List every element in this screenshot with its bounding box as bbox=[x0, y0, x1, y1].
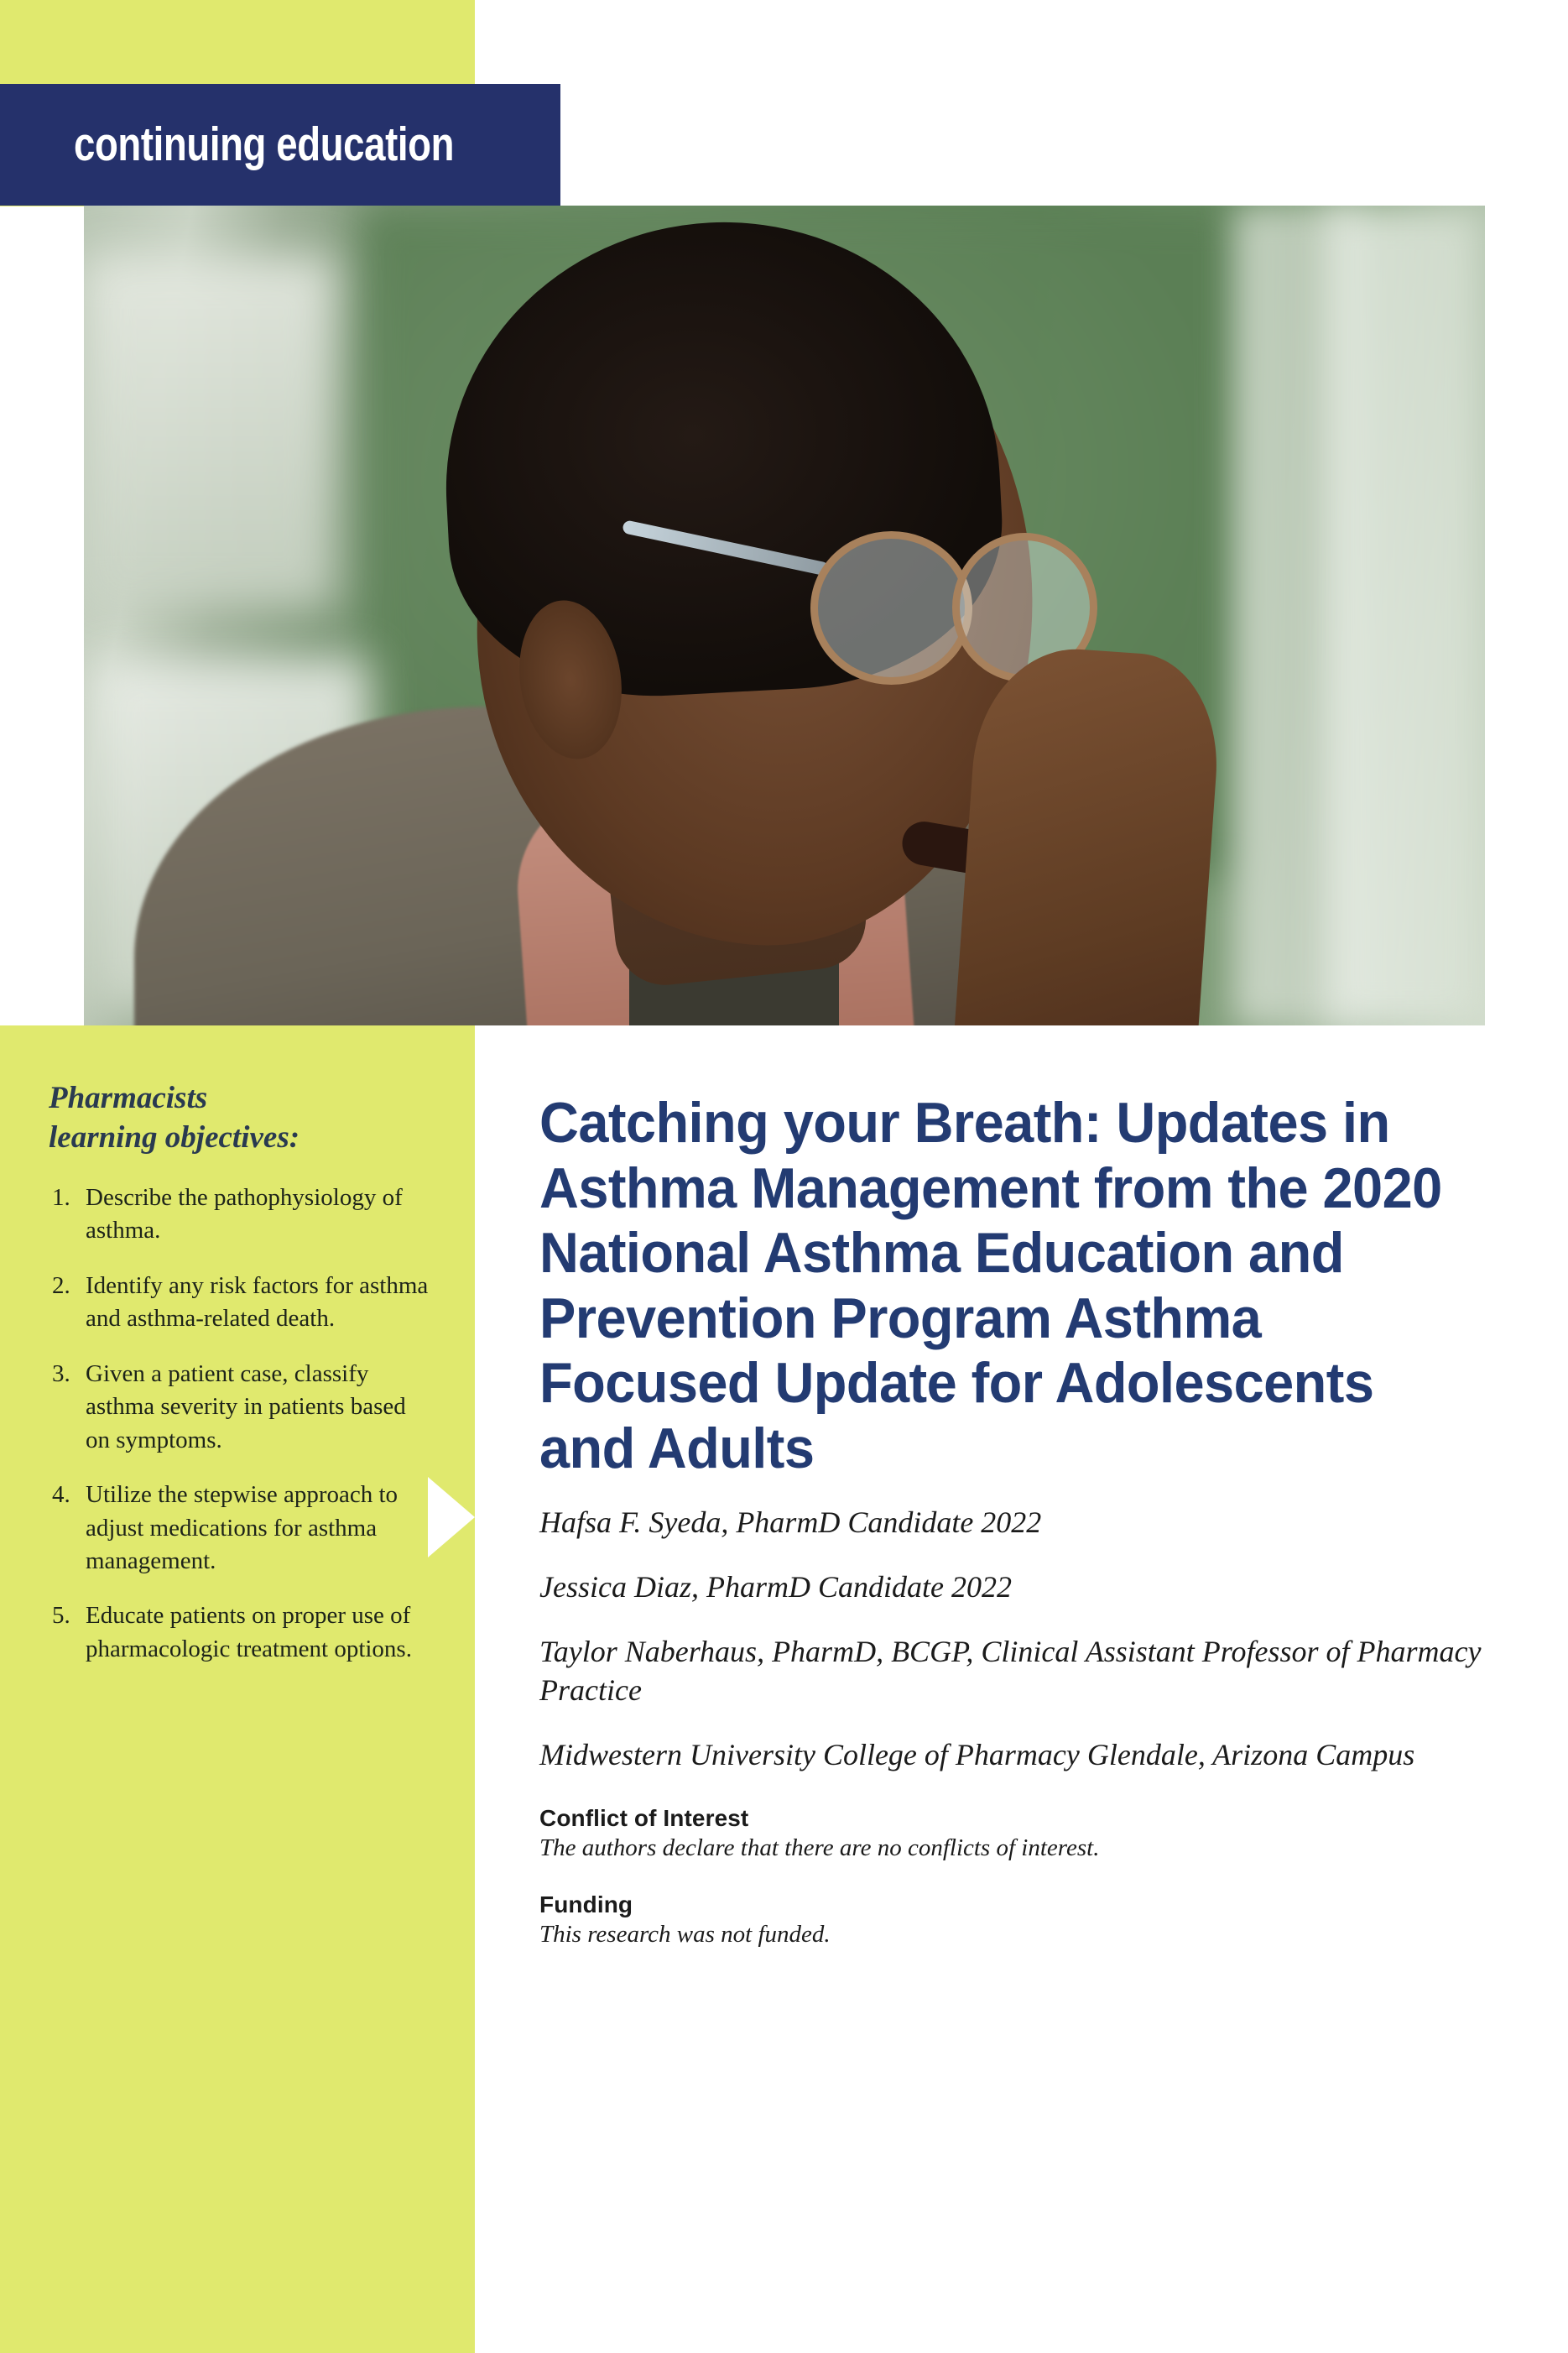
conflict-of-interest-text: The authors declare that there are no co… bbox=[539, 1833, 1513, 1865]
eyeglasses-lens-left-icon bbox=[810, 531, 972, 685]
funding-block: Funding This research was not funded. bbox=[539, 1890, 1513, 1951]
list-item: 1. Describe the pathophysiology of asthm… bbox=[52, 1182, 434, 1248]
funding-text: This research was not funded. bbox=[539, 1919, 1513, 1951]
objective-text: Utilize the stepwise approach to adjust … bbox=[86, 1479, 434, 1578]
list-item: 3. Given a patient case, classify asthma… bbox=[52, 1358, 434, 1457]
author-1: Hafsa F. Syeda, PharmD Candidate 2022 bbox=[539, 1503, 1513, 1542]
learning-objectives-list: 1. Describe the pathophysiology of asthm… bbox=[52, 1182, 434, 1688]
objective-number: 1. bbox=[52, 1182, 86, 1248]
objective-number: 3. bbox=[52, 1358, 86, 1457]
learning-objectives-heading: Pharmacists learning objectives: bbox=[49, 1079, 443, 1157]
objective-text: Educate patients on proper use of pharma… bbox=[86, 1599, 434, 1666]
objective-text: Identify any risk factors for asthma and… bbox=[86, 1270, 434, 1336]
sidebar-notch-icon bbox=[428, 1477, 475, 1557]
objective-number: 4. bbox=[52, 1479, 86, 1578]
conflict-of-interest-label: Conflict of Interest bbox=[539, 1803, 1513, 1833]
funding-label: Funding bbox=[539, 1890, 1513, 1919]
author-3: Taylor Naberhaus, PharmD, BCGP, Clinical… bbox=[539, 1632, 1513, 1711]
continuing-education-banner: continuing education bbox=[0, 84, 560, 206]
page-title: Catching your Breath: Updates in Asthma … bbox=[539, 1091, 1469, 1481]
author-2: Jessica Diaz, PharmD Candidate 2022 bbox=[539, 1568, 1513, 1607]
objective-number: 5. bbox=[52, 1599, 86, 1666]
hero-photo bbox=[84, 206, 1485, 1025]
objective-text: Describe the pathophysiology of asthma. bbox=[86, 1182, 434, 1248]
learning-objectives-heading-line1: Pharmacists bbox=[49, 1081, 207, 1115]
conflict-of-interest-block: Conflict of Interest The authors declare… bbox=[539, 1803, 1513, 1865]
list-item: 4. Utilize the stepwise approach to adju… bbox=[52, 1479, 434, 1578]
objective-text: Given a patient case, classify asthma se… bbox=[86, 1358, 434, 1457]
photo-subject bbox=[84, 206, 1485, 1025]
learning-objectives-heading-line2: learning objectives: bbox=[49, 1120, 300, 1155]
list-item: 5. Educate patients on proper use of pha… bbox=[52, 1599, 434, 1666]
objective-number: 2. bbox=[52, 1270, 86, 1336]
article-column: Catching your Breath: Updates in Asthma … bbox=[539, 1091, 1513, 1975]
continuing-education-label: continuing education bbox=[74, 121, 454, 169]
list-item: 2. Identify any risk factors for asthma … bbox=[52, 1270, 434, 1336]
affiliation: Midwestern University College of Pharmac… bbox=[539, 1735, 1513, 1775]
